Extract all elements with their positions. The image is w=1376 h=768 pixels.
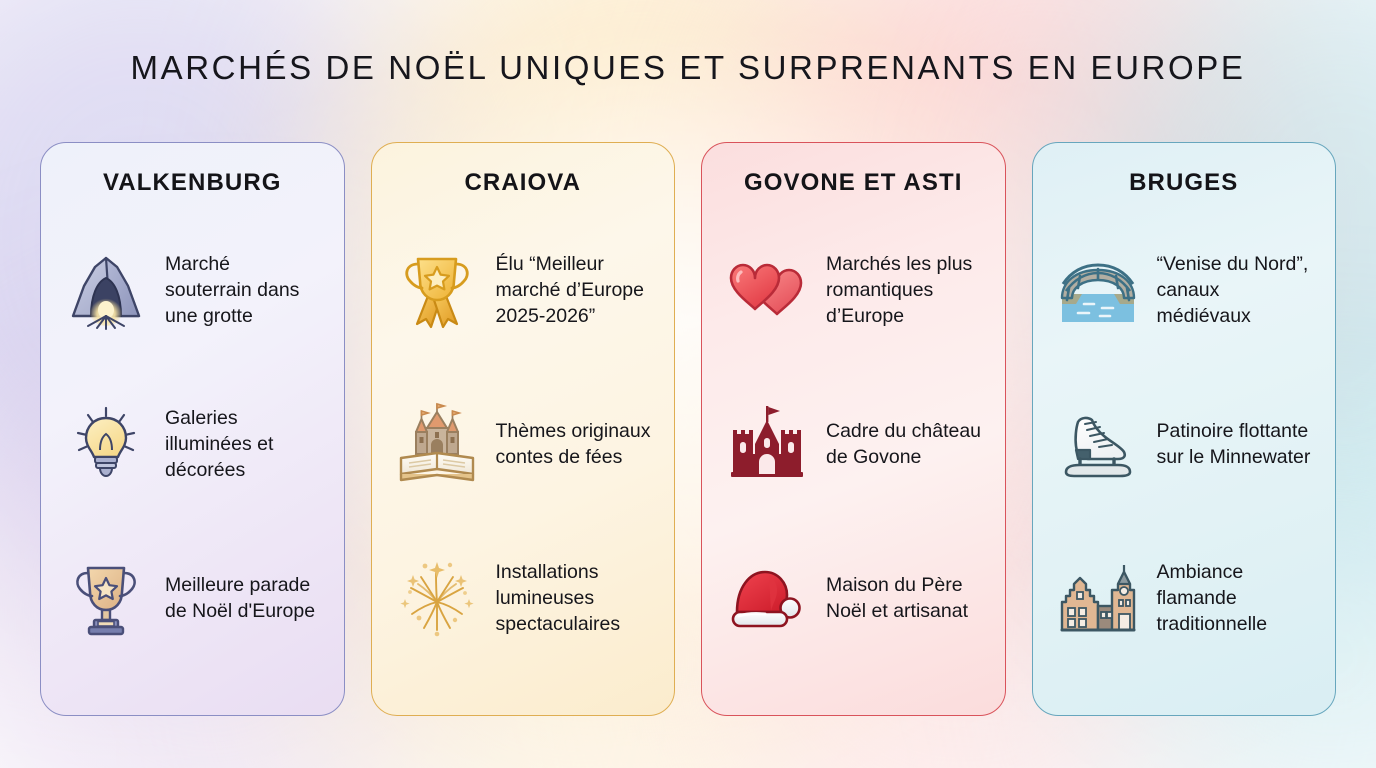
city-cards-row: VALKENBURG <box>40 142 1336 716</box>
list-item: Meilleure parade de Noël d'Europe <box>63 555 322 641</box>
card-items-bruges: “Venise du Nord”, canaux médiévaux <box>1055 207 1314 693</box>
infographic-page: MARCHÉS DE NOËL UNIQUES ET SURPRENANTS E… <box>0 0 1376 768</box>
list-item: Marché souterrain dans une grotte <box>63 247 322 333</box>
ice-skate-icon <box>1055 401 1141 487</box>
card-items-valkenburg: Marché souterrain dans une grotte <box>63 207 322 693</box>
trophy-icon <box>63 555 149 641</box>
list-item-text: Marchés les plus romantiques d’Europe <box>826 251 983 329</box>
city-card-bruges[interactable]: BRUGES <box>1032 142 1337 716</box>
page-title: MARCHÉS DE NOËL UNIQUES ET SURPRENANTS E… <box>0 48 1376 88</box>
list-item-text: Patinoire flottante sur le Minnewater <box>1157 418 1314 470</box>
flemish-houses-icon <box>1055 555 1141 641</box>
list-item-text: “Venise du Nord”, canaux médiévaux <box>1157 251 1314 329</box>
list-item: Thèmes originaux contes de fées <box>394 401 653 487</box>
card-title-bruges: BRUGES <box>1055 169 1314 197</box>
list-item: Ambiance flamande traditionnelle <box>1055 555 1314 641</box>
list-item: Marchés les plus romantiques d’Europe <box>724 247 983 333</box>
list-item-text: Meilleure parade de Noël d'Europe <box>165 572 322 624</box>
list-item-text: Marché souterrain dans une grotte <box>165 251 322 329</box>
list-item-text: Thèmes originaux contes de fées <box>496 418 653 470</box>
trophy-ribbon-icon <box>394 247 480 333</box>
santa-hat-icon <box>724 555 810 641</box>
city-card-craiova[interactable]: CRAIOVA <box>371 142 676 716</box>
list-item: “Venise du Nord”, canaux médiévaux <box>1055 247 1314 333</box>
list-item: Maison du Père Noël et artisanat <box>724 555 983 641</box>
list-item-text: Ambiance flamande traditionnelle <box>1157 559 1314 637</box>
card-title-govone-asti: GOVONE ET ASTI <box>724 169 983 197</box>
list-item-text: Installations lumineuses spectaculaires <box>496 559 653 637</box>
card-items-govone-asti: Marchés les plus romantiques d’Europe <box>724 207 983 693</box>
list-item-text: Élu “Meilleur marché d’Europe 2025-2026” <box>496 251 653 329</box>
cave-icon <box>63 247 149 333</box>
list-item: Patinoire flottante sur le Minnewater <box>1055 401 1314 487</box>
card-title-craiova: CRAIOVA <box>394 169 653 197</box>
city-card-valkenburg[interactable]: VALKENBURG <box>40 142 345 716</box>
list-item: Installations lumineuses spectaculaires <box>394 555 653 641</box>
list-item: Galeries illuminées et décorées <box>63 401 322 487</box>
list-item: Élu “Meilleur marché d’Europe 2025-2026” <box>394 247 653 333</box>
card-title-valkenburg: VALKENBURG <box>63 169 322 197</box>
two-hearts-icon <box>724 247 810 333</box>
city-card-govone-asti[interactable]: GOVONE ET ASTI <box>701 142 1006 716</box>
list-item-text: Galeries illuminées et décorées <box>165 405 322 483</box>
fireworks-icon <box>394 555 480 641</box>
bridge-icon <box>1055 247 1141 333</box>
list-item-text: Maison du Père Noël et artisanat <box>826 572 983 624</box>
card-items-craiova: Élu “Meilleur marché d’Europe 2025-2026” <box>394 207 653 693</box>
lightbulb-icon <box>63 401 149 487</box>
list-item: Cadre du château de Govone <box>724 401 983 487</box>
castle-icon <box>724 401 810 487</box>
storybook-castle-icon <box>394 401 480 487</box>
list-item-text: Cadre du château de Govone <box>826 418 983 470</box>
